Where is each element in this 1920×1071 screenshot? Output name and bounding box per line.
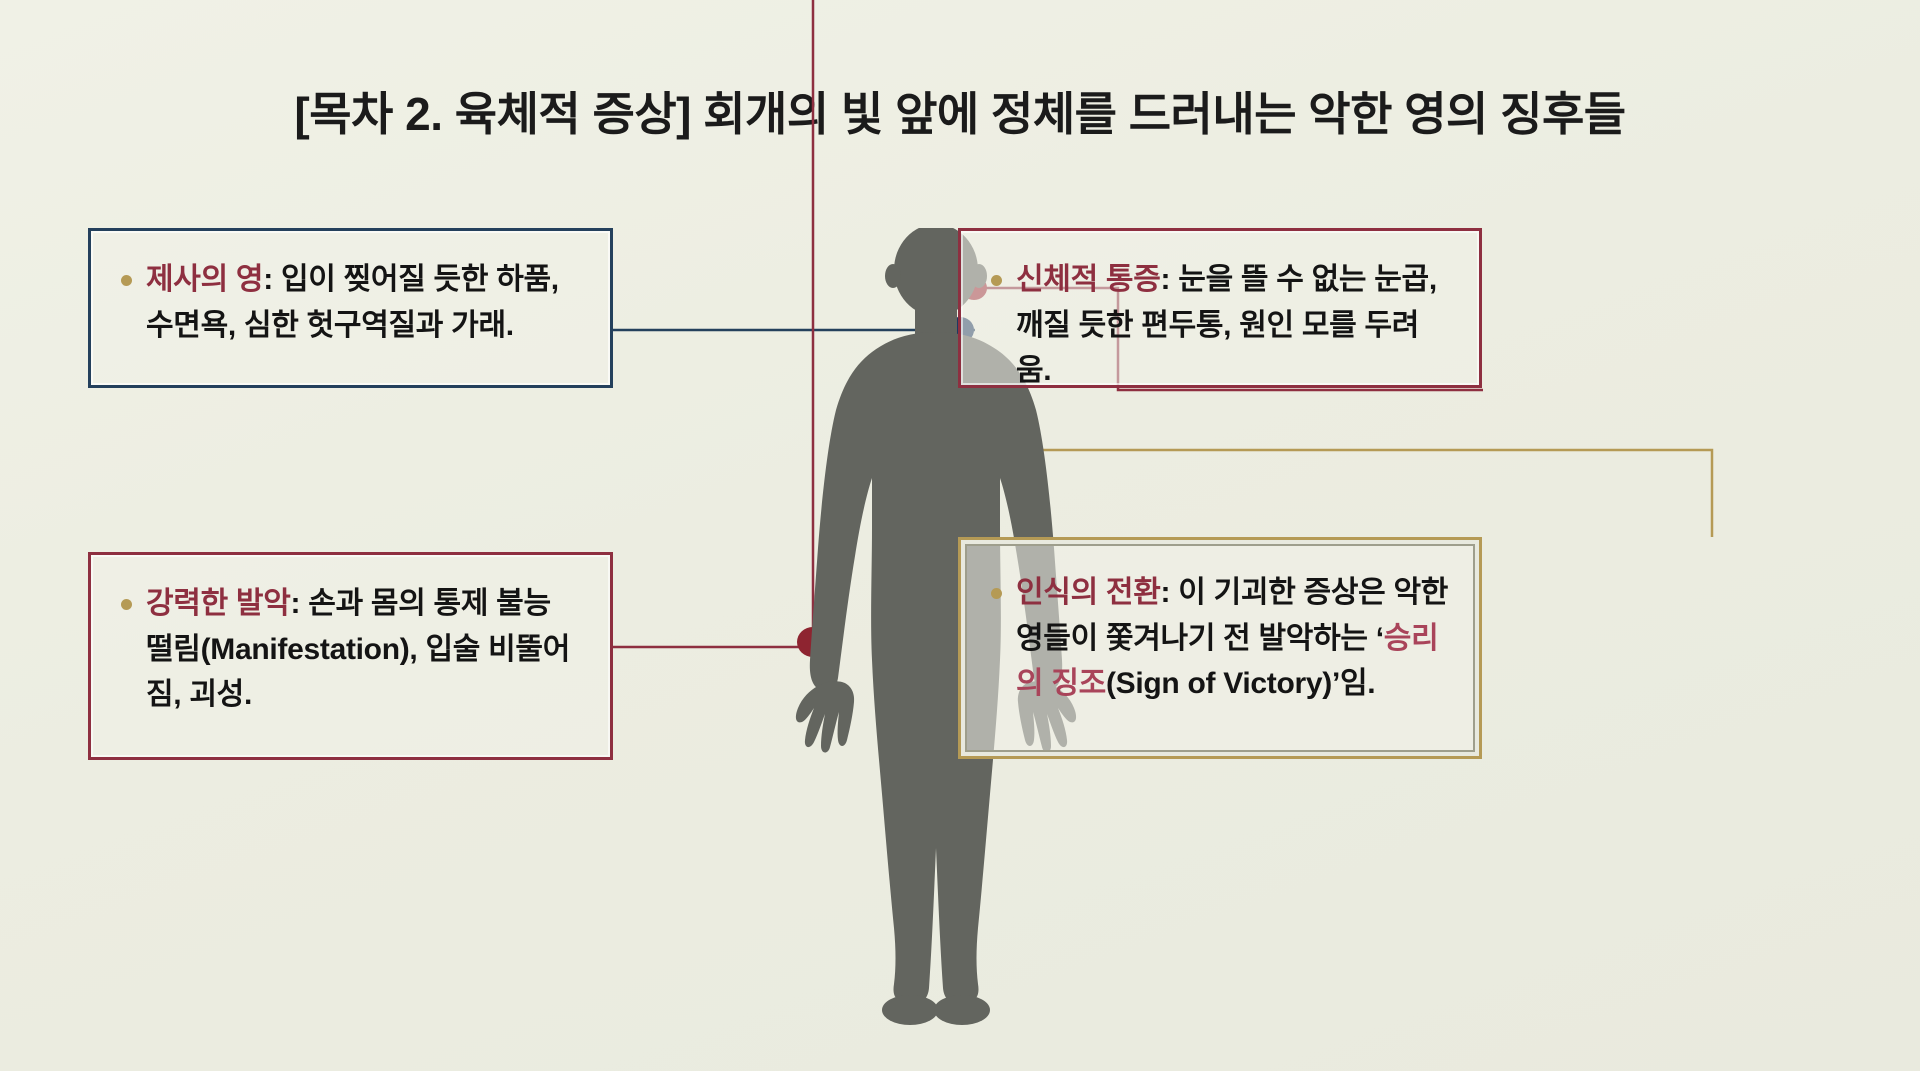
callout-shift-in-perception[interactable]: 인식의 전환: 이 기괴한 증상은 악한 영들이 쫓겨나기 전 발악하는 ‘승리… [958,537,1482,759]
callout-spirit-of-ritual[interactable]: 제사의 영: 입이 찢어질 듯한 하품, 수면욕, 심한 헛구역질과 가래. [88,228,613,388]
bullet-icon [121,275,132,286]
callout-physical-pain-separator: : [1161,263,1179,296]
callout-violent-rage-text: 강력한 발악: 손과 몸의 통제 불능 떨림(Manifestation), 입… [146,581,580,718]
figure-hand-left [796,681,854,752]
callout-shift-in-perception-separator: : [1161,576,1179,609]
callout-physical-pain-lead: 신체적 통증 [1016,263,1161,296]
callout-shift-in-perception-text: 인식의 전환: 이 기괴한 증상은 악한 영들이 쫓겨나기 전 발악하는 ‘승리… [1016,570,1449,707]
callout-violent-rage[interactable]: 강력한 발악: 손과 몸의 통제 불능 떨림(Manifestation), 입… [88,552,613,760]
bullet-icon [121,599,132,610]
figure-foot-left [882,995,938,1025]
bullet-icon [991,588,1002,599]
slide-canvas: [목차 2. 육체적 증상] 회개의 빛 앞에 정체를 드러내는 악한 영의 징… [0,0,1920,1071]
callout-spirit-of-ritual-text: 제사의 영: 입이 찢어질 듯한 하품, 수면욕, 심한 헛구역질과 가래. [146,257,580,348]
callout-violent-rage-separator: : [291,587,309,620]
callout-shift-in-perception-body-part2: (Sign of Victory)’임. [1106,667,1375,700]
callout-shift-in-perception-lead: 인식의 전환 [1016,576,1161,609]
callout-physical-pain-text: 신체적 통증: 눈을 뜰 수 없는 눈곱, 깨질 듯한 편두통, 원인 모를 두… [1016,257,1449,394]
bullet-icon [991,275,1002,286]
figure-foot-right [934,995,990,1025]
callout-physical-pain[interactable]: 신체적 통증: 눈을 뜰 수 없는 눈곱, 깨질 듯한 편두통, 원인 모를 두… [958,228,1482,388]
callout-spirit-of-ritual-lead: 제사의 영 [146,263,263,296]
callout-spirit-of-ritual-separator: : [263,263,281,296]
callout-violent-rage-lead: 강력한 발악 [146,587,291,620]
page-title: [목차 2. 육체적 증상] 회개의 빛 앞에 정체를 드러내는 악한 영의 징… [0,78,1920,144]
figure-ear-left [885,264,901,288]
